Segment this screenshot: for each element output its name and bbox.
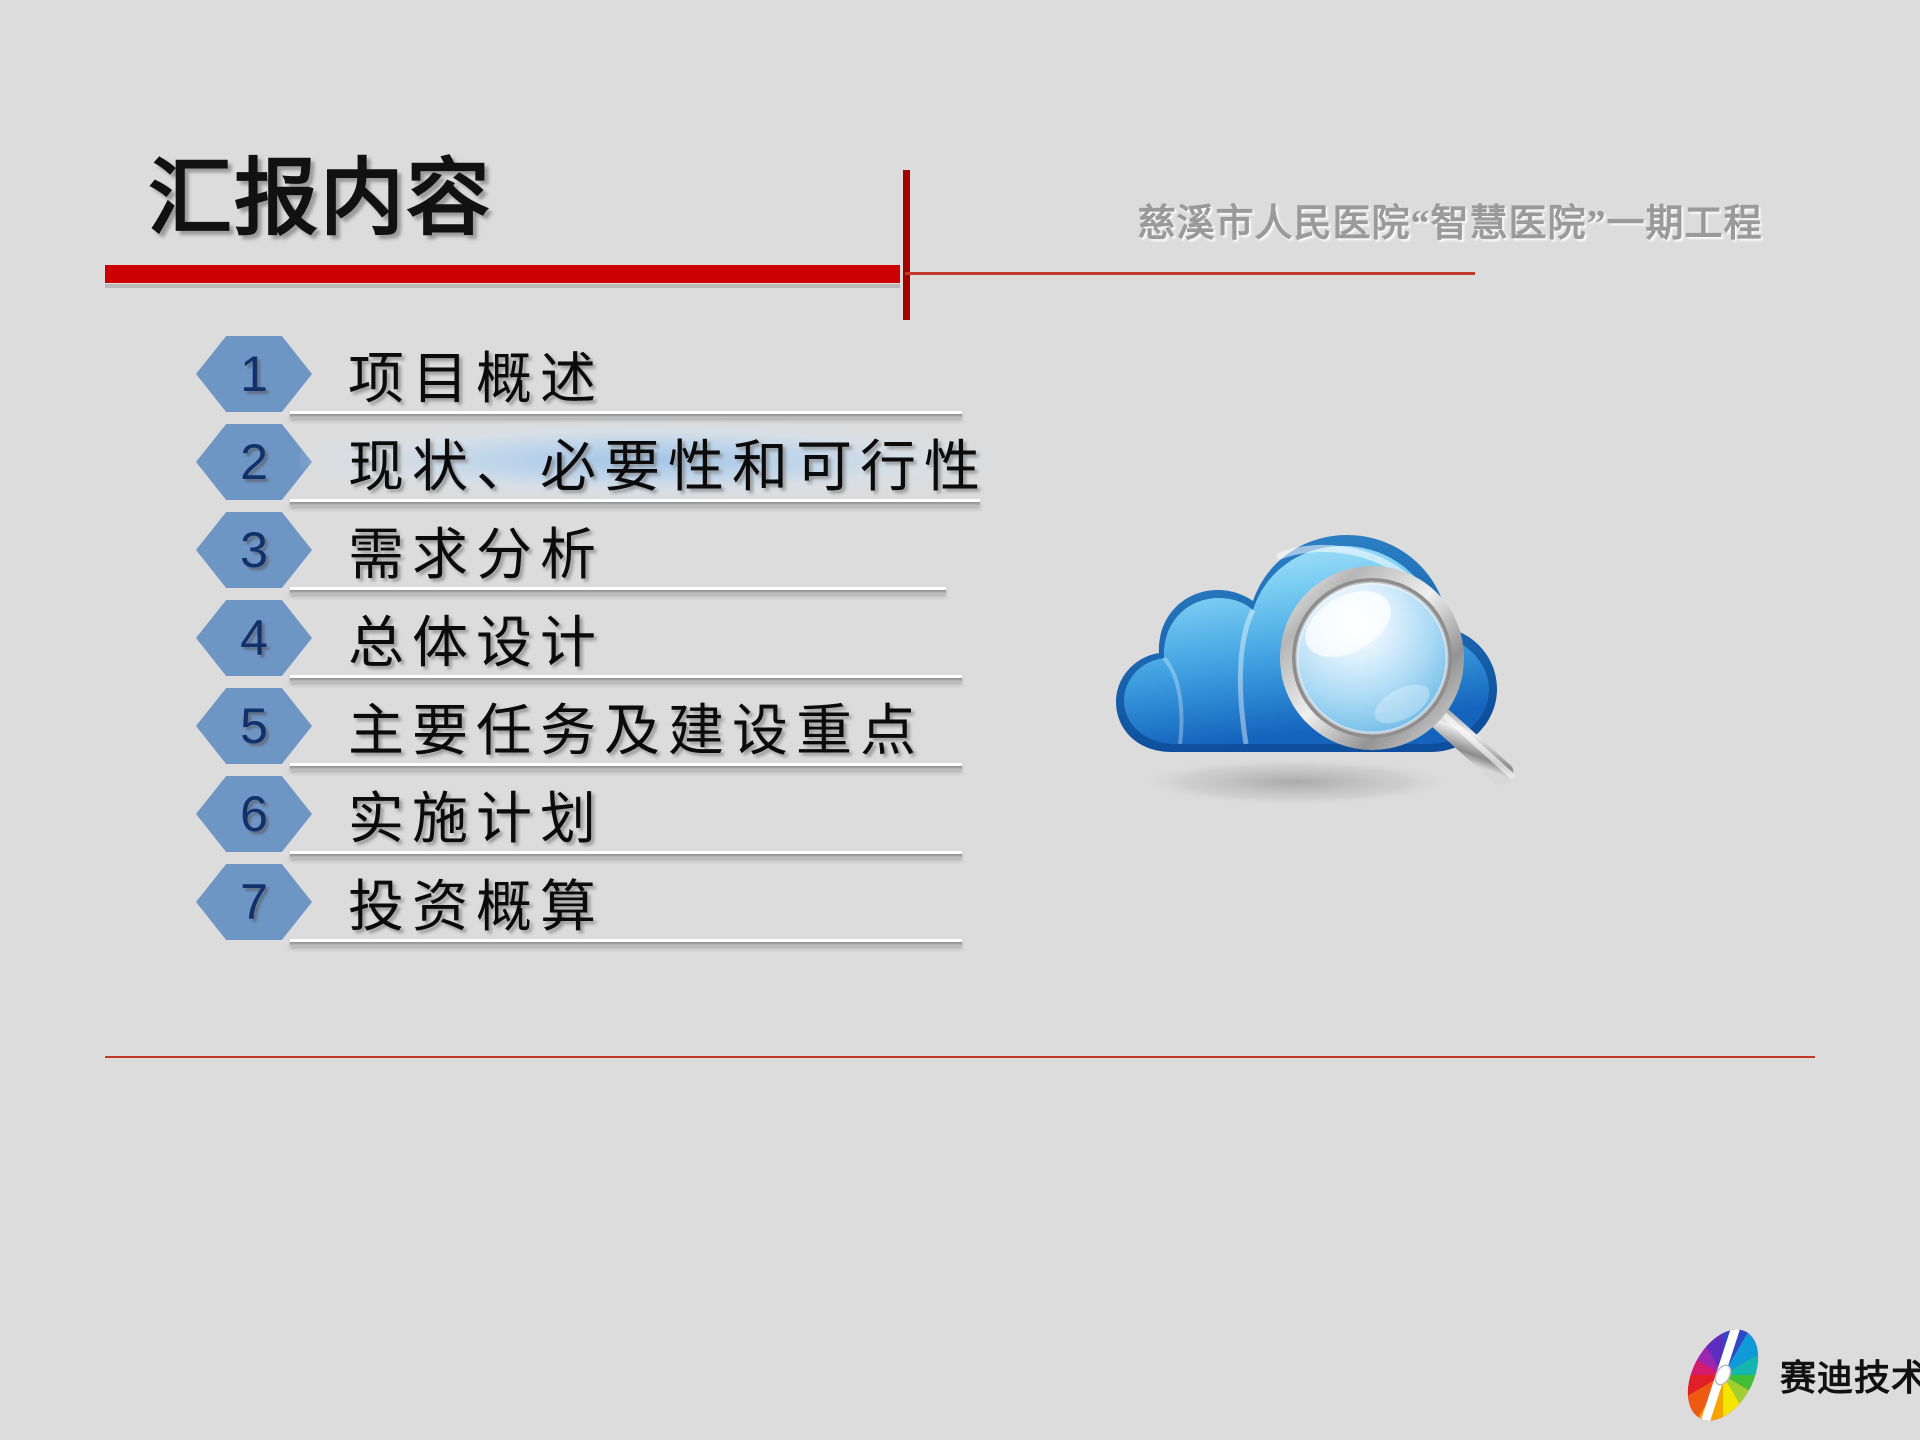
agenda-row[interactable]: 7投资概算	[0, 858, 1100, 946]
agenda-item-label[interactable]: 实施计划	[348, 770, 604, 858]
agenda-item-number: 3	[196, 512, 312, 588]
agenda-item-number: 4	[196, 600, 312, 676]
agenda-item-number: 6	[196, 776, 312, 852]
brand-logo: 赛迪技术	[1680, 1322, 1910, 1427]
agenda-row[interactable]: 6实施计划	[0, 770, 1100, 858]
rainbow-disc-icon	[1680, 1323, 1766, 1427]
header-subtitle: 慈溪市人民医院“智慧医院”一期工程	[1137, 205, 1762, 243]
agenda-item-label[interactable]: 投资概算	[348, 858, 604, 946]
agenda-item-label[interactable]: 总体设计	[348, 594, 604, 682]
agenda-item-label[interactable]: 需求分析	[348, 506, 604, 594]
header-red-rule	[905, 272, 1475, 275]
agenda-item-number: 2	[196, 424, 312, 500]
footer-divider	[105, 1056, 1815, 1058]
agenda-item-number: 5	[196, 688, 312, 764]
agenda-row[interactable]: 2现状、必要性和可行性	[0, 418, 1100, 506]
agenda-item-label[interactable]: 项目概述	[348, 330, 604, 418]
header-vertical-divider	[903, 170, 910, 320]
agenda-row[interactable]: 5主要任务及建设重点	[0, 682, 1100, 770]
brand-logo-label: 赛迪技术	[1780, 1349, 1920, 1401]
slide-canvas: 汇报内容 慈溪市人民医院“智慧医院”一期工程 1项目概述2现状、必要性和可行性3…	[0, 0, 1920, 1440]
header-grey-bar	[105, 284, 900, 288]
agenda-row[interactable]: 1项目概述	[0, 330, 1100, 418]
agenda-item-label[interactable]: 现状、必要性和可行性	[348, 418, 988, 506]
cloud-with-magnifier-icon	[1110, 490, 1530, 820]
agenda-row[interactable]: 3需求分析	[0, 506, 1100, 594]
page-title: 汇报内容	[148, 158, 492, 242]
agenda-item-label[interactable]: 主要任务及建设重点	[348, 682, 924, 770]
header-red-bar	[105, 265, 900, 283]
agenda-item-number: 1	[196, 336, 312, 412]
agenda-row[interactable]: 4总体设计	[0, 594, 1100, 682]
agenda-list: 1项目概述2现状、必要性和可行性3需求分析4总体设计5主要任务及建设重点6实施计…	[0, 330, 1100, 946]
agenda-item-number: 7	[196, 864, 312, 940]
